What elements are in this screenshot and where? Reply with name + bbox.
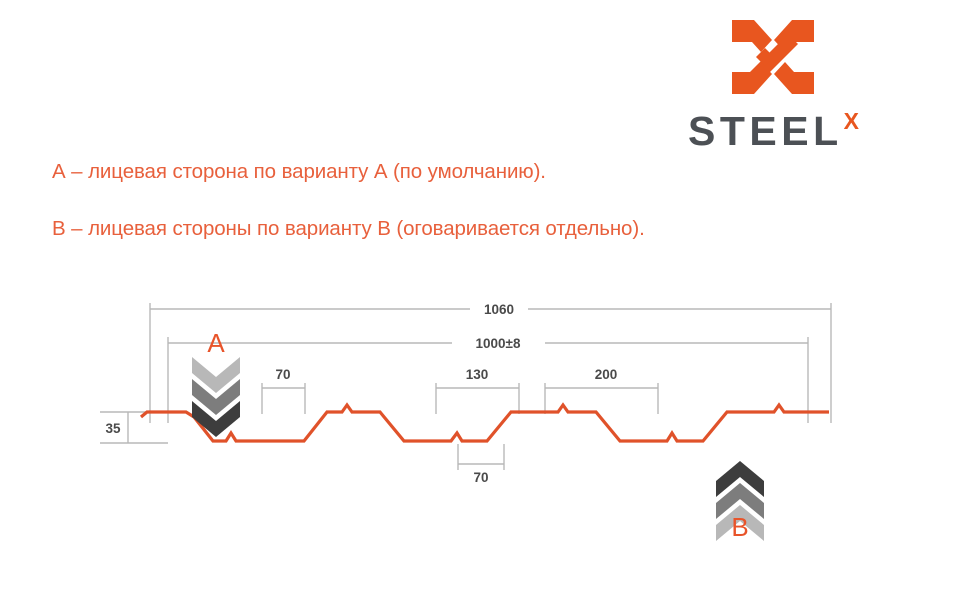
- dimension-label-rib-pitch: 200: [595, 367, 618, 382]
- profile-technical-drawing: 1060 1000±8 35 70 130 200: [0, 0, 970, 597]
- dimension-label-valley-width: 70: [473, 470, 488, 485]
- dimension-label-inner-pitch: 130: [466, 367, 489, 382]
- corrugated-profile-line: [141, 405, 829, 441]
- dimension-crest-width: 70: [262, 367, 305, 414]
- dimension-label-useful-width: 1000±8: [476, 336, 521, 351]
- dimension-label-profile-height: 35: [105, 421, 121, 436]
- dimension-label-crest-width: 70: [275, 367, 290, 382]
- marker-b: B: [716, 461, 764, 542]
- dimension-valley-width: 70: [458, 444, 504, 485]
- dimension-overall-width: 1060: [150, 302, 831, 423]
- marker-a: A: [192, 328, 240, 437]
- dimension-profile-height: 35: [100, 412, 168, 443]
- marker-a-letter: A: [207, 328, 225, 358]
- marker-b-letter: B: [731, 512, 748, 542]
- dimension-inner-pitch: 130: [436, 367, 519, 414]
- dimension-label-overall-width: 1060: [484, 302, 514, 317]
